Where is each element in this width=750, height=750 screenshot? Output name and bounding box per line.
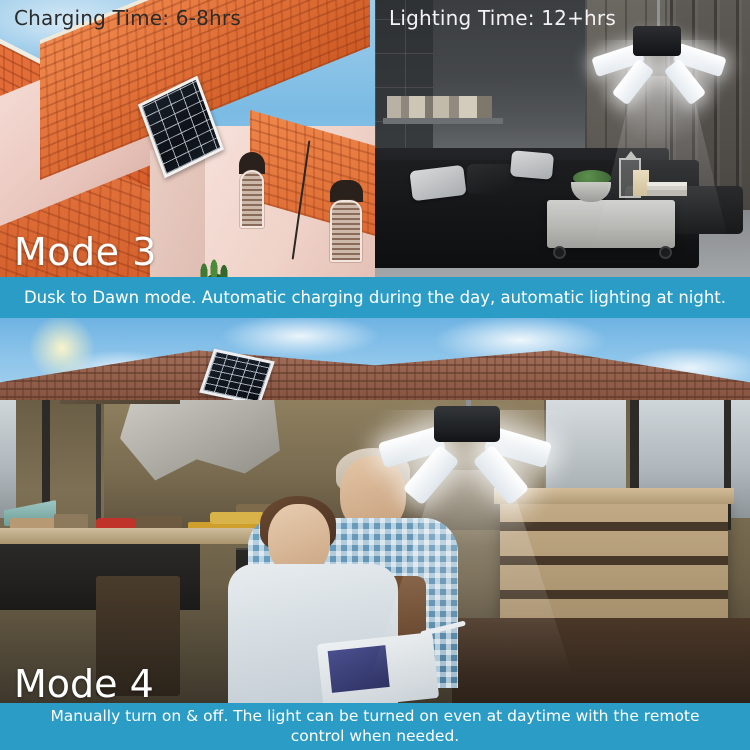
tablet-device bbox=[317, 632, 439, 703]
mode-4-label: Mode 4 bbox=[14, 665, 154, 703]
bottom-led-fixture-body bbox=[434, 406, 500, 442]
window-middle bbox=[546, 400, 626, 500]
panel-charging-time: Charging Time: 6-8hrs Mode 3 bbox=[0, 0, 375, 277]
arch-window-top-2 bbox=[330, 180, 363, 202]
top-section: Charging Time: 6-8hrs Mode 3 bbox=[0, 0, 750, 277]
table-caster-left bbox=[553, 246, 566, 259]
band-roof-tiles bbox=[0, 348, 750, 402]
caption-text-mode-3: Dusk to Dawn mode. Automatic charging du… bbox=[24, 288, 726, 307]
tablet-screen bbox=[328, 645, 390, 693]
caption-bar-mode-4: Manually turn on & off. The light can be… bbox=[0, 703, 750, 750]
workshop-scene: Mode 4 bbox=[0, 400, 750, 703]
louvered-window-1 bbox=[240, 170, 264, 228]
dark-pillow bbox=[467, 164, 513, 194]
louvered-window-2 bbox=[330, 200, 362, 262]
crate-contents bbox=[60, 400, 180, 404]
crate-gap-2 bbox=[500, 556, 728, 565]
wall-shelf bbox=[383, 118, 503, 124]
wooden-crate bbox=[500, 496, 728, 622]
sky-roof-band bbox=[0, 318, 750, 402]
table-caster-right bbox=[659, 246, 672, 259]
window-left bbox=[0, 400, 16, 518]
led-fixture-body bbox=[633, 26, 681, 56]
panel-lighting-time: Lighting Time: 12+hrs bbox=[375, 0, 750, 277]
product-infographic-page: Charging Time: 6-8hrs Mode 3 bbox=[0, 0, 750, 750]
right-bench-surface bbox=[452, 618, 750, 703]
yellow-level bbox=[210, 512, 264, 524]
charging-time-label: Charging Time: 6-8hrs bbox=[14, 6, 241, 30]
bookshelf-books bbox=[387, 96, 492, 118]
band-solar-cell-grid bbox=[203, 352, 271, 402]
mode-3-label: Mode 3 bbox=[14, 233, 157, 271]
light-pillow-2 bbox=[510, 150, 554, 180]
caption-text-mode-4: Manually turn on & off. The light can be… bbox=[26, 707, 724, 747]
caption-bar-mode-3: Dusk to Dawn mode. Automatic charging du… bbox=[0, 277, 750, 318]
lighting-time-label: Lighting Time: 12+hrs bbox=[389, 6, 616, 30]
palm-plant bbox=[196, 246, 236, 277]
crate-rim bbox=[494, 488, 734, 504]
stacked-books bbox=[647, 182, 687, 196]
crate-gap-3 bbox=[500, 590, 728, 599]
crate-gap-1 bbox=[500, 522, 728, 531]
support-post-2 bbox=[96, 400, 101, 520]
concrete-coffee-table bbox=[547, 200, 675, 248]
